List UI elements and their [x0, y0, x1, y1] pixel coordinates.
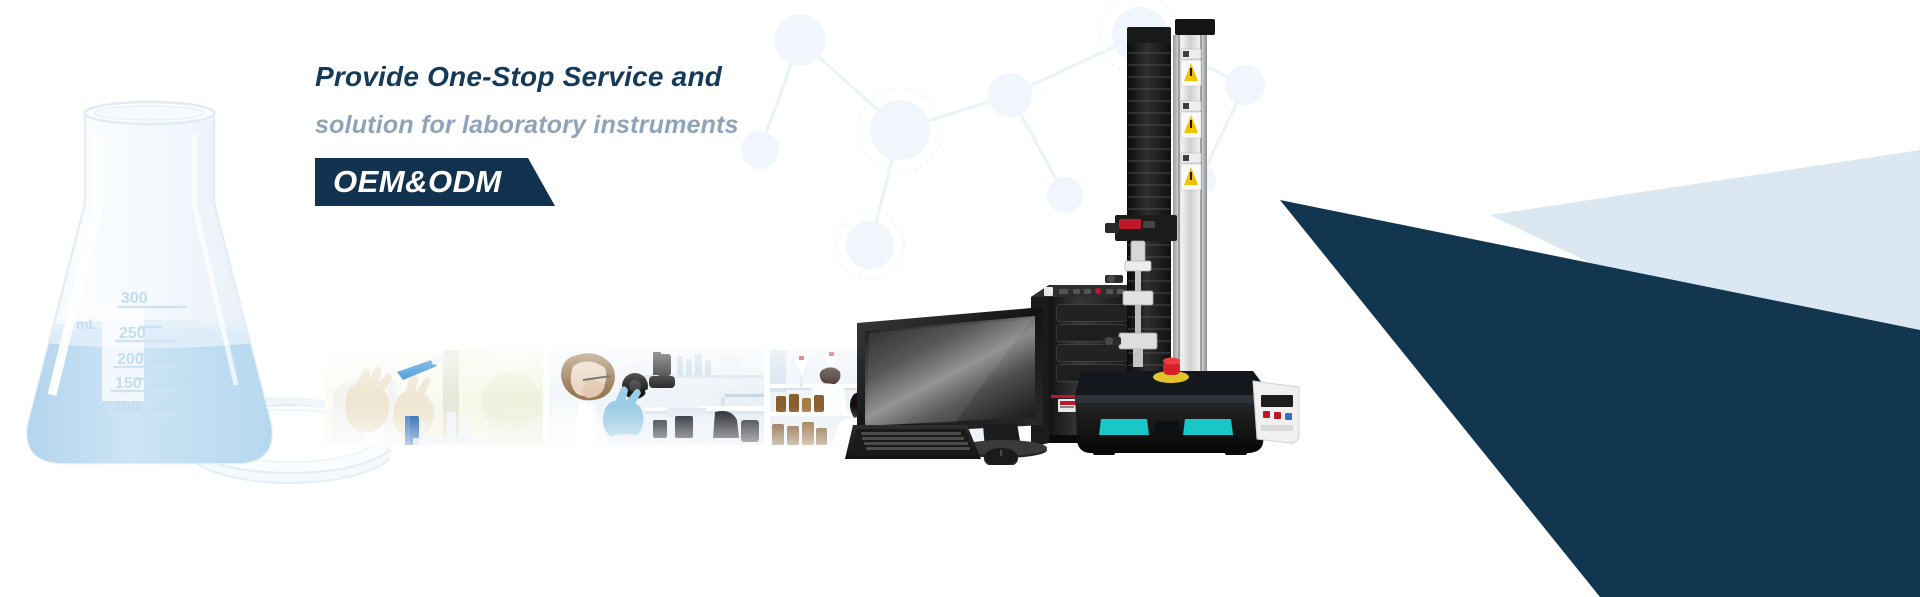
- warning-labels: [1181, 49, 1201, 190]
- control-base: [1075, 358, 1299, 456]
- photo-gloved-hands-pipetting: [325, 350, 543, 445]
- svg-text:250: 250: [119, 325, 146, 342]
- light-accent-triangle: [1490, 150, 1920, 420]
- headline-line-2: solution for laboratory instruments: [315, 106, 1015, 144]
- crosshead: [1105, 215, 1177, 241]
- oem-odm-badge: OEM&ODM: [315, 158, 555, 206]
- svg-text:300: 300: [121, 290, 148, 307]
- dark-accent-triangle: [1280, 200, 1920, 597]
- promo-banner: 300 250 200 150 100 mL Provide One-Stop …: [0, 0, 1920, 597]
- svg-text:200: 200: [117, 351, 144, 368]
- corner-accent-shapes: [1200, 0, 1920, 597]
- svg-text:150: 150: [115, 375, 142, 392]
- headline-line-1: Provide One-Stop Service and: [315, 58, 1015, 96]
- badge-label: OEM&ODM: [333, 158, 502, 206]
- keyboard: [845, 425, 981, 459]
- svg-text:100: 100: [113, 399, 140, 416]
- headline-block: Provide One-Stop Service and solution fo…: [315, 58, 1015, 206]
- photo-scientist-at-microscope: [549, 350, 764, 445]
- svg-text:mL: mL: [76, 316, 97, 332]
- universal-material-testing-machine: [1075, 5, 1305, 455]
